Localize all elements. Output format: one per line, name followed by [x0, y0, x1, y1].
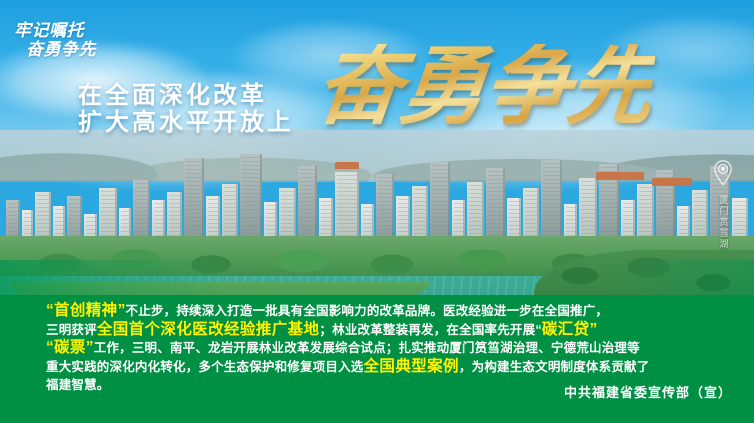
body-line-2-text-a: 三明获评	[46, 323, 97, 337]
quote-close-2: ”	[589, 321, 597, 338]
campaign-logo: 牢记嘱托 奋勇争先	[14, 22, 96, 58]
location-pin-icon	[712, 160, 734, 186]
quote-close-3: ”	[86, 339, 94, 356]
body-line-3: “碳票”工作，三明、南平、龙岩开展林业改革发展综合试点；扎实推动厦门筼筜湖治理、…	[46, 339, 718, 358]
headline-line-2: 扩大高水平开放上	[78, 109, 294, 136]
calligraphy-title: 奋勇争先	[311, 44, 656, 130]
body-line-4-text-b: ，为构建生态文明制度体系贡献了	[459, 360, 650, 374]
body-line-4-text-a: 重大实践的深化内化转化，多个生态保护和修复项目入选	[46, 360, 364, 374]
body-line-2-text-b: ；林业改革整装再发，在全国率先开展“	[319, 323, 541, 337]
logo-line-2: 奋勇争先	[26, 41, 96, 58]
highlight-tanpiao: 碳票	[54, 339, 86, 356]
highlight-dianxinganli: 全国典型案例	[364, 358, 459, 375]
body-line-5-text: 福建智慧。	[46, 378, 110, 392]
quote-open-3: “	[46, 339, 54, 356]
body-line-1-text: 不止步，持续深入打造一批具有全国影响力的改革品牌。医改经验进一步在全国推广，	[126, 304, 609, 318]
highlight-shouchuang: 首创精神	[54, 302, 118, 319]
location-label: 厦门筼筜湖	[718, 195, 729, 250]
highlight-tanhuidai: 碳汇贷	[542, 321, 590, 338]
body-line-1: “首创精神”不止步，持续深入打造一批具有全国影响力的改革品牌。医改经验进一步在全…	[46, 302, 718, 321]
body-line-4: 重大实践的深化内化转化，多个生态保护和修复项目入选全国典型案例，为构建生态文明制…	[46, 358, 718, 377]
body-line-3-text: 工作，三明、南平、龙岩开展林业改革发展综合试点；扎实推动厦门筼筜湖治理、宁德荒山…	[94, 341, 640, 355]
logo-line-1: 牢记嘱托	[14, 22, 96, 39]
headline: 在全面深化改革 扩大高水平开放上	[78, 82, 294, 136]
poster-root: 牢记嘱托 奋勇争先 在全面深化改革 扩大高水平开放上 奋勇争先 厦门筼筜湖 “首…	[0, 0, 754, 423]
publisher-credit: 中共福建省委宣传部（宣）	[564, 382, 732, 401]
headline-line-1: 在全面深化改革	[78, 82, 294, 109]
highlight-jidi: 全国首个深化医改经验推广基地	[97, 321, 320, 338]
quote-close: ”	[118, 302, 126, 319]
location-marker: 厦门筼筜湖	[710, 160, 736, 255]
body-text-block: “首创精神”不止步，持续深入打造一批具有全国影响力的改革品牌。医改经验进一步在全…	[46, 302, 718, 395]
quote-open: “	[46, 302, 54, 319]
body-line-2: 三明获评全国首个深化医改经验推广基地；林业改革整装再发，在全国率先开展“碳汇贷”	[46, 321, 718, 340]
